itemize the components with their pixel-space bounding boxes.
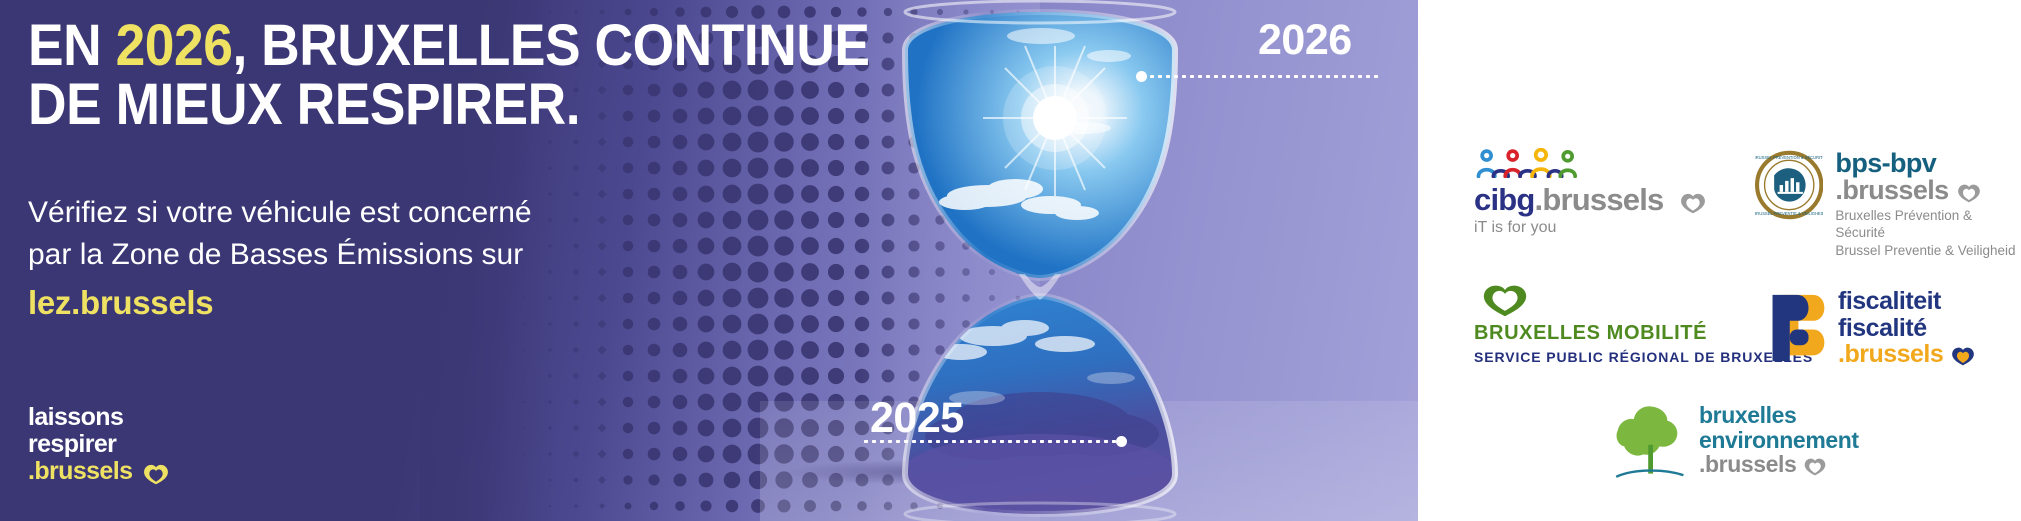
bps-subtitle-fr: Bruxelles Prévention & Sécurité: [1835, 207, 2021, 242]
environnement-line-3: .brussels: [1699, 451, 1796, 477]
iris-heart-grey-icon: [1676, 192, 1710, 214]
headline-suffix: , BRUXELLES CONTINUE: [232, 13, 869, 78]
headline-line-2: DE MIEUX RESPIRER.: [28, 75, 838, 134]
cibg-people-icon: [1474, 148, 1590, 178]
dotted-line-2026: [1140, 75, 1380, 78]
subcopy-line-2: par la Zone de Basses Émissions sur: [28, 234, 668, 276]
environnement-line-2: environnement: [1699, 428, 1859, 453]
dot-knob-2026: [1136, 71, 1147, 82]
dot-knob-2025: [1116, 436, 1127, 447]
headline-line-1: EN 2026, BRUXELLES CONTINUE: [28, 16, 838, 75]
year-label-2026: 2026: [1258, 16, 1352, 65]
headline-year: 2026: [116, 13, 233, 78]
lr-line-1: laissons: [28, 404, 173, 431]
tree-icon: [1613, 400, 1685, 480]
logo-bps-bpv-brussels[interactable]: BRUSSEL PRÉVENTION & SÉCURITÉ BRUSSEL PR…: [1755, 150, 2021, 259]
fiscalite-line-2: fiscalité: [1838, 315, 1978, 342]
iris-heart-icon: [139, 463, 173, 485]
year-label-2025: 2025: [870, 394, 964, 443]
partner-logo-panel: cibg.brussels iT is for you: [1418, 0, 2021, 521]
fiscalite-f-icon: [1768, 292, 1826, 364]
cibg-name-secondary: .brussels: [1535, 182, 1664, 217]
logo-bruxelles-environnement[interactable]: bruxelles environnement .brussels: [1613, 400, 1859, 480]
advertising-banner: EN 2026, BRUXELLES CONTINUE DE MIEUX RES…: [0, 0, 2021, 521]
fiscalite-wordmark: fiscaliteit fiscalité .brussels: [1838, 288, 1978, 368]
iris-heart-grey-icon: [1954, 183, 1984, 203]
lr-line-2: respirer: [28, 431, 173, 458]
logo-cibg-brussels[interactable]: cibg.brussels iT is for you: [1474, 148, 1710, 237]
iris-heart-green-icon: [1474, 283, 1536, 317]
headline: EN 2026, BRUXELLES CONTINUE DE MIEUX RES…: [28, 16, 838, 134]
mobilite-title: BRUXELLES MOBILITÉ: [1474, 322, 1813, 345]
iris-heart-grey-icon: [1801, 457, 1829, 476]
lr-line-3: .brussels: [28, 458, 132, 485]
cibg-name-primary: cibg: [1474, 182, 1535, 217]
laissons-respirer-logo[interactable]: laissons respirer .brussels: [28, 404, 173, 485]
environnement-line-1: bruxelles: [1699, 403, 1859, 428]
bps-seal-icon: BRUSSEL PRÉVENTION & SÉCURITÉ BRUSSEL PR…: [1755, 150, 1823, 220]
environnement-wordmark: bruxelles environnement .brussels: [1699, 403, 1859, 477]
dotted-line-2025: [862, 440, 1120, 443]
mobilite-subtitle: SERVICE PUBLIC RÉGIONAL DE BRUXELLES: [1474, 349, 1813, 365]
cibg-tagline: iT is for you: [1474, 219, 1710, 237]
subcopy: Vérifiez si votre véhicule est concerné …: [28, 192, 668, 326]
bps-name-primary: bps-bpv: [1835, 150, 2021, 177]
bps-wordmark: bps-bpv .brussels: [1835, 150, 2021, 204]
bps-subtitle-nl: Brussel Preventie & Veiligheid: [1835, 242, 2021, 259]
headline-prefix: EN: [28, 13, 116, 78]
subcopy-line-1: Vérifiez si votre véhicule est concerné: [28, 192, 668, 234]
fiscalite-line-3: .brussels: [1838, 340, 1943, 368]
svg-text:BRUSSEL PREVENTIE & VEILIGHEID: BRUSSEL PREVENTIE & VEILIGHEID: [1755, 211, 1823, 216]
logo-fiscalite-brussels[interactable]: fiscaliteit fiscalité .brussels: [1768, 288, 1978, 368]
cibg-wordmark: cibg.brussels: [1474, 183, 1710, 216]
bps-name-secondary: .brussels: [1835, 175, 1948, 205]
iris-heart-blue-yellow-icon: [1948, 346, 1978, 366]
lez-brussels-url[interactable]: lez.brussels: [28, 280, 668, 326]
fiscalite-line-1: fiscaliteit: [1838, 288, 1978, 315]
svg-text:BRUSSEL PRÉVENTION & SÉCURITÉ: BRUSSEL PRÉVENTION & SÉCURITÉ: [1755, 155, 1823, 160]
logo-bruxelles-mobilite[interactable]: BRUXELLES MOBILITÉ SERVICE PUBLIC RÉGION…: [1474, 283, 1813, 365]
promo-panel: EN 2026, BRUXELLES CONTINUE DE MIEUX RES…: [0, 0, 1418, 521]
